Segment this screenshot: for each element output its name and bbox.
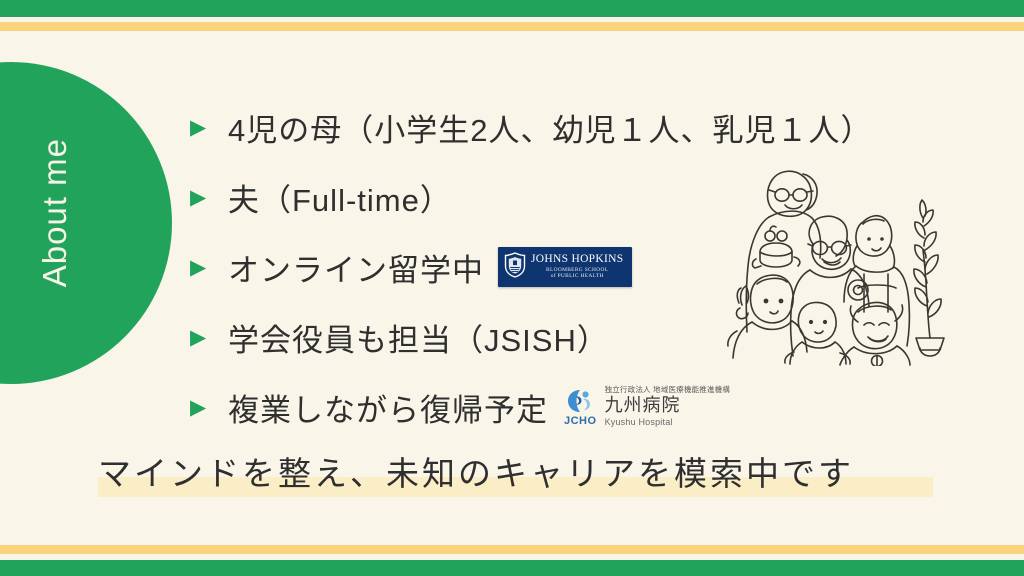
johns-hopkins-department: of PUBLIC HEALTH [531, 274, 623, 279]
jcho-mark: JCHO [564, 388, 597, 427]
jcho-emblem-icon [566, 388, 594, 414]
section-label: About me [36, 138, 74, 287]
johns-hopkins-name: JOHNS HOPKINS [531, 254, 623, 266]
jcho-abbreviation: JCHO [564, 415, 597, 427]
triangle-bullet-icon: ▶ [190, 397, 214, 418]
bottom-green-band [0, 560, 1024, 576]
top-green-band [0, 0, 1024, 17]
triangle-bullet-icon: ▶ [190, 327, 214, 348]
bullet-text: 複業しながら復帰予定 [228, 385, 548, 430]
triangle-bullet-icon: ▶ [190, 117, 214, 138]
top-yellow-band [0, 22, 1024, 31]
family-illustration [706, 162, 952, 366]
list-item: ▶ 複業しながら復帰予定 JCHO 独立行政法人 地域医療機能推進機構 九州病院… [190, 372, 980, 442]
jcho-hospital-name-en: Kyushu Hospital [605, 418, 730, 428]
list-item: ▶ 4児の母（小学生2人、幼児１人、乳児１人） [190, 92, 980, 162]
jcho-kyushu-hospital-logo: JCHO 独立行政法人 地域医療機能推進機構 九州病院 Kyushu Hospi… [564, 386, 730, 427]
closing-statement: マインドを整え、未知のキャリアを模索中です [98, 445, 854, 497]
bullet-text: 夫（Full-time） [228, 175, 452, 220]
johns-hopkins-wordmark: JOHNS HOPKINS BLOOMBERG SCHOOL of PUBLIC… [531, 254, 623, 279]
about-me-circle [0, 62, 172, 384]
jcho-wordmark: 独立行政法人 地域医療機能推進機構 九州病院 Kyushu Hospital [605, 386, 730, 427]
triangle-bullet-icon: ▶ [190, 257, 214, 278]
slide-canvas: About me ▶ 4児の母（小学生2人、幼児１人、乳児１人） ▶ 夫（Ful… [0, 0, 1024, 576]
closing-text: マインドを整え、未知のキャリアを模索中です [98, 447, 854, 495]
bullet-text: 4児の母（小学生2人、幼児１人、乳児１人） [228, 105, 872, 150]
jcho-corporate-name: 独立行政法人 地域医療機能推進機構 [605, 386, 730, 394]
shield-icon [504, 252, 526, 283]
johns-hopkins-logo: JOHNS HOPKINS BLOOMBERG SCHOOL of PUBLIC… [498, 247, 632, 287]
jcho-hospital-name-jp: 九州病院 [605, 396, 730, 415]
bullet-text: 学会役員も担当（JSISH） [228, 315, 609, 360]
bottom-yellow-band [0, 545, 1024, 554]
bullet-text: オンライン留学中 [228, 245, 484, 290]
triangle-bullet-icon: ▶ [190, 187, 214, 208]
